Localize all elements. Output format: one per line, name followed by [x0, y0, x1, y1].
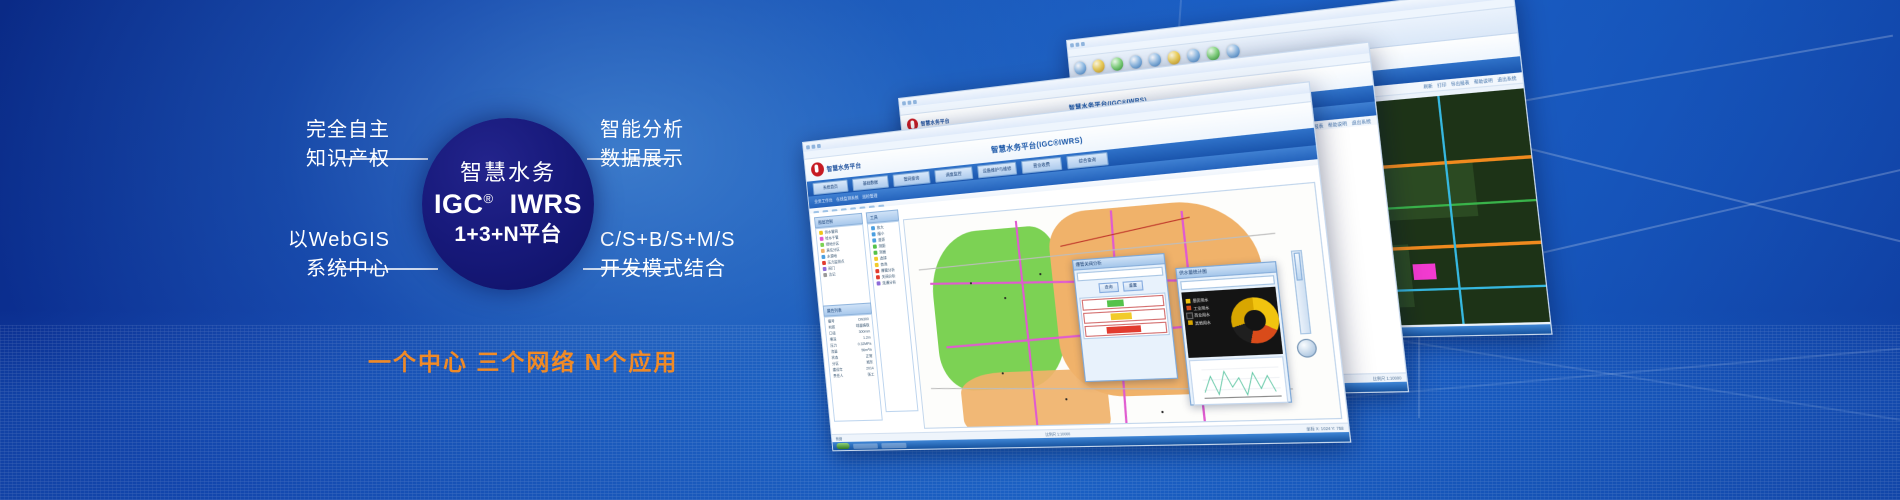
taskbar-item[interactable] — [881, 442, 906, 448]
burst-pipe-dialog[interactable]: 爆管关阀分析 查询 重置 — [1072, 253, 1178, 382]
window-body-front: 图层控制 供水管网 给水干管 绿地分区 居住分区 水源地 压力监测点 阀门 注记… — [810, 165, 1348, 435]
map-vertical-scrollbar[interactable] — [1291, 250, 1312, 335]
connector-bottom-left — [338, 268, 438, 270]
dialog-query-button[interactable]: 查询 — [1098, 282, 1119, 293]
banner-root: 完全自主 知识产权 以WebGIS 系统中心 智能分析 数据展示 C/S+B/S… — [0, 0, 1900, 500]
window-control-icon[interactable] — [907, 100, 911, 104]
dialog-reset-button[interactable]: 重置 — [1122, 280, 1143, 291]
brand-text-front: 智慧水务平台 — [826, 160, 861, 173]
statistics-dialog[interactable]: 供水量统计图 居民用水 工业用水 商业用水 其他用水 — [1175, 261, 1292, 406]
connector-top-left — [338, 158, 428, 160]
window-control-icon[interactable] — [1081, 41, 1085, 45]
pie-chart-panel[interactable]: 居民用水 工业用水 商业用水 其他用水 — [1181, 287, 1283, 358]
hub-brand-second: IWRS — [510, 189, 583, 219]
pie-legend: 居民用水 工业用水 商业用水 其他用水 — [1185, 297, 1211, 326]
bar-result-table — [1079, 292, 1170, 339]
hub-brand-main: IGC — [434, 189, 484, 219]
ribbon-icon[interactable] — [1226, 43, 1240, 58]
status-item[interactable]: 退出系统 — [1497, 75, 1517, 84]
mini-line-chart-svg — [1190, 357, 1287, 404]
status-item[interactable]: 刷新 — [1423, 82, 1433, 90]
pie-legend-item: 商业用水 — [1187, 311, 1210, 318]
pie-legend-item: 居民用水 — [1185, 297, 1208, 304]
statusbar-left: 就绪 — [836, 436, 843, 441]
app-title-front: 智慧水务平台(IGC®IWRS) — [991, 135, 1084, 156]
window-control-icon[interactable] — [902, 101, 906, 105]
window-control-icon[interactable] — [913, 99, 917, 103]
status-item[interactable]: 帮助说明 — [1474, 77, 1493, 86]
ribbon-icon[interactable] — [1074, 60, 1087, 74]
brand-logo-front: 智慧水务平台 — [810, 158, 861, 178]
window-control-icon[interactable] — [1075, 42, 1079, 46]
feature-top-right-line1: 智能分析 — [600, 119, 684, 141]
feature-bottom-left-line1: 以WebGIS — [288, 229, 390, 251]
status-item[interactable]: 打印 — [1437, 81, 1447, 89]
feature-top-left-line1: 完全自主 — [306, 119, 390, 141]
ribbon-icon[interactable] — [1129, 54, 1143, 69]
feature-top-left: 完全自主 知识产权 — [60, 116, 390, 174]
ribbon-icon[interactable] — [1092, 58, 1105, 72]
hub-platform: 1+3+N平台 — [454, 223, 561, 247]
start-button-icon[interactable] — [836, 443, 850, 449]
feature-bottom-left: 以WebGIS 系统中心 — [60, 226, 390, 284]
nav-sub-item[interactable]: 业务工作台 — [814, 197, 833, 205]
pie-chart — [1229, 296, 1282, 345]
water-drop-icon — [810, 162, 824, 177]
window-control-icon[interactable] — [817, 143, 821, 147]
status-item[interactable]: 导出报表 — [1451, 79, 1470, 87]
statusbar-coords: 坐标 X: 1024 Y: 768 — [1306, 425, 1344, 432]
mini-line-chart[interactable] — [1189, 356, 1289, 405]
ribbon-icon[interactable] — [1186, 48, 1200, 63]
nav-sub-item[interactable]: 巡检管理 — [862, 193, 878, 201]
ribbon-icon[interactable] — [1148, 52, 1162, 67]
screenshot-stack: 智慧水务平台 智慧水务平台(IGC®IWRS) 系统首页 基础数据 管网查询 管… — [780, 40, 1900, 460]
ribbon-icon[interactable] — [1110, 56, 1123, 70]
app-window-front[interactable]: 智慧水务平台 智慧水务平台(IGC®IWRS) 系统首页 基础数据 管网查询 调… — [802, 81, 1351, 451]
tagline: 一个中心 三个网络 N个应用 — [368, 343, 678, 377]
window-control-icon[interactable] — [806, 145, 810, 149]
feature-diagram: 完全自主 知识产权 以WebGIS 系统中心 智能分析 数据展示 C/S+B/S… — [250, 100, 810, 390]
nav-sub-item[interactable]: 在线监测系统 — [836, 195, 859, 203]
hub-brand: IGC® IWRS — [434, 190, 582, 220]
window-control-icon[interactable] — [811, 144, 815, 148]
layer-tree-panel[interactable]: 图层控制 供水管网 给水干管 绿地分区 居住分区 水源地 压力监测点 阀门 注记 — [814, 213, 871, 311]
registered-icon: ® — [483, 191, 493, 206]
pie-legend-item: 工业用水 — [1186, 304, 1209, 311]
scrollbar-thumb[interactable] — [1293, 252, 1302, 280]
map-pan-control[interactable] — [1296, 338, 1318, 358]
ribbon-icon[interactable] — [1167, 50, 1181, 65]
attribute-panel[interactable]: 属性列表 编号DN300 材质球墨铸铁 口径300mm 埋深1.2m 压力0.3… — [823, 302, 883, 421]
feature-bottom-right-line1: C/S+B/S+M/S — [600, 229, 736, 251]
pie-legend-item: 其他用水 — [1188, 319, 1211, 326]
attribute-row: 责任人张工 — [831, 371, 876, 379]
statusbar-scale: 比例尺 1:10000 — [1045, 431, 1070, 437]
tool-row[interactable]: 连通分析 — [874, 279, 903, 287]
layer-tree-list[interactable]: 供水管网 给水干管 绿地分区 居住分区 水源地 压力监测点 阀门 注记 — [815, 224, 871, 311]
attribute-list[interactable]: 编号DN300 材质球墨铸铁 口径300mm 埋深1.2m 压力0.32MPa … — [824, 314, 883, 422]
gis-map-canvas[interactable]: 爆管关阀分析 查询 重置 — [903, 182, 1343, 429]
statusbar-scale: 比例尺 1:10000 — [1373, 375, 1402, 381]
window-control-icon[interactable] — [1070, 43, 1074, 47]
hub-title-cn: 智慧水务 — [460, 161, 556, 185]
taskbar-item[interactable] — [853, 443, 878, 449]
ribbon-icon[interactable] — [1206, 45, 1220, 60]
connector-bottom-right — [583, 268, 671, 270]
center-hub: 智慧水务 IGC® IWRS 1+3+N平台 — [422, 118, 594, 290]
bar-result-row — [1084, 322, 1167, 337]
connector-top-right — [587, 158, 671, 160]
